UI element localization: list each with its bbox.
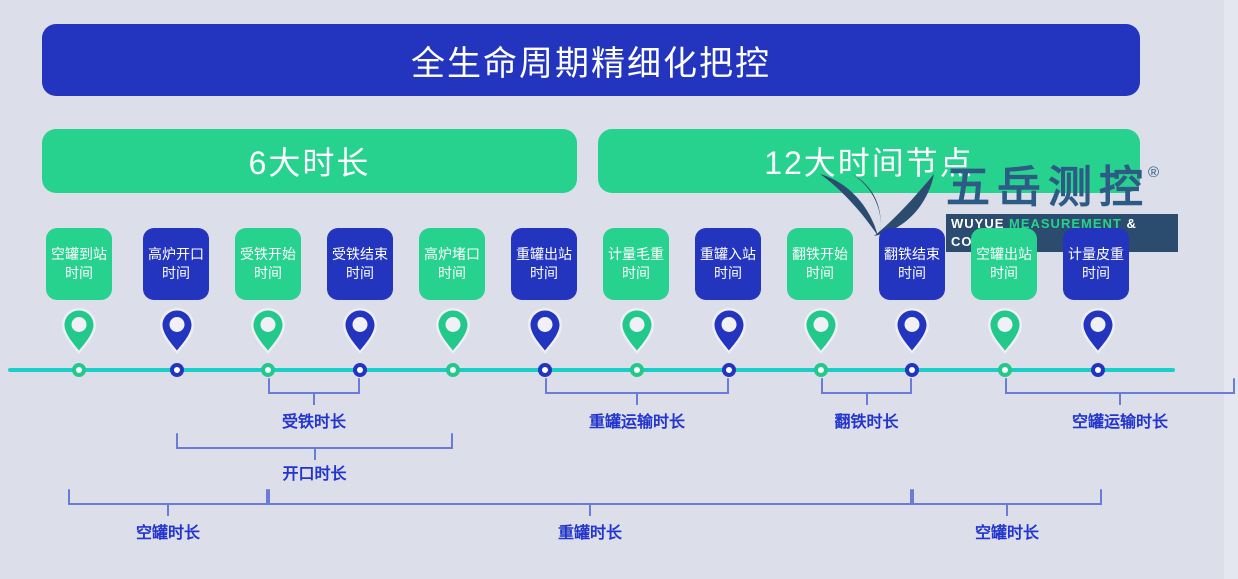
duration-bracket-label-6: 空罐时长 — [78, 519, 258, 543]
timeline-dot-10[interactable] — [905, 363, 919, 377]
map-pin-icon-6[interactable] — [527, 307, 563, 355]
node-card-label: 受铁开始时间 — [239, 245, 297, 283]
node-card-label: 空罐出站时间 — [975, 245, 1033, 283]
node-card-10[interactable]: 翻铁结束时间 — [879, 228, 945, 300]
bracket-end-left — [68, 489, 70, 504]
bracket-end-left — [268, 489, 270, 504]
duration-bracket-label-2: 重罐运输时长 — [547, 408, 727, 432]
bracket-center-tick — [167, 504, 169, 516]
duration-bracket-label-5: 开口时长 — [225, 460, 405, 484]
node-card-8[interactable]: 重罐入站时间 — [695, 228, 761, 300]
timeline-dot-7[interactable] — [630, 363, 644, 377]
watermark-registered-mark: ® — [1148, 164, 1159, 181]
duration-bracket-8 — [912, 489, 1102, 511]
bracket-end-left — [1005, 378, 1007, 393]
node-card-9[interactable]: 翻铁开始时间 — [787, 228, 853, 300]
map-pin-icon-8[interactable] — [711, 307, 747, 355]
node-card-6[interactable]: 重罐出站时间 — [511, 228, 577, 300]
bracket-end-right — [910, 378, 912, 393]
map-pin-icon-2[interactable] — [159, 307, 195, 355]
map-pin-icon-7[interactable] — [619, 307, 655, 355]
node-card-4[interactable]: 受铁结束时间 — [327, 228, 393, 300]
map-pin-icon-11[interactable] — [987, 307, 1023, 355]
bracket-end-left — [268, 378, 270, 393]
timeline-dot-8[interactable] — [722, 363, 736, 377]
map-pin-icon-9[interactable] — [803, 307, 839, 355]
duration-bracket-5 — [176, 433, 453, 455]
duration-bracket-label-7: 重罐时长 — [500, 519, 680, 543]
bracket-end-left — [176, 433, 178, 448]
duration-bracket-2 — [545, 378, 729, 400]
node-card-label: 高炉堵口时间 — [423, 245, 481, 283]
node-card-11[interactable]: 空罐出站时间 — [971, 228, 1037, 300]
timeline-dot-11[interactable] — [998, 363, 1012, 377]
right-edge-strip — [1224, 0, 1238, 579]
bracket-end-right — [1100, 489, 1102, 504]
duration-bracket-label-4: 空罐运输时长 — [1030, 408, 1210, 432]
section-banner-durations-label: 6大时长 — [249, 138, 371, 184]
node-card-1[interactable]: 空罐到站时间 — [46, 228, 112, 300]
section-banner-time-nodes-label: 12大时间节点 — [764, 138, 974, 184]
node-card-label: 重罐入站时间 — [699, 245, 757, 283]
duration-bracket-1 — [268, 378, 360, 400]
map-pin-icon-12[interactable] — [1080, 307, 1116, 355]
node-card-label: 翻铁开始时间 — [791, 245, 849, 283]
node-card-label: 受铁结束时间 — [331, 245, 389, 283]
node-card-12[interactable]: 计量皮重时间 — [1063, 228, 1129, 300]
timeline-dot-9[interactable] — [814, 363, 828, 377]
section-banner-durations: 6大时长 — [42, 129, 577, 193]
duration-bracket-label-1: 受铁时长 — [224, 408, 404, 432]
duration-bracket-7 — [268, 489, 912, 511]
map-pin-icon-3[interactable] — [250, 307, 286, 355]
duration-bracket-label-8: 空罐时长 — [917, 519, 1097, 543]
timeline-dot-12[interactable] — [1091, 363, 1105, 377]
node-card-5[interactable]: 高炉堵口时间 — [419, 228, 485, 300]
timeline-dot-6[interactable] — [538, 363, 552, 377]
node-card-label: 计量皮重时间 — [1067, 245, 1125, 283]
timeline-dot-4[interactable] — [353, 363, 367, 377]
bracket-end-left — [545, 378, 547, 393]
map-pin-icon-1[interactable] — [61, 307, 97, 355]
node-card-7[interactable]: 计量毛重时间 — [603, 228, 669, 300]
node-card-label: 高炉开口时间 — [147, 245, 205, 283]
page-title-banner: 全生命周期精细化把控 — [42, 24, 1140, 96]
node-card-3[interactable]: 受铁开始时间 — [235, 228, 301, 300]
bracket-center-tick — [1006, 504, 1008, 516]
bracket-end-right — [358, 378, 360, 393]
bracket-center-tick — [314, 448, 316, 460]
bracket-end-right — [1233, 378, 1235, 393]
section-banner-time-nodes: 12大时间节点 — [598, 129, 1140, 193]
bracket-center-tick — [636, 393, 638, 405]
duration-bracket-4 — [1005, 378, 1235, 400]
bracket-end-left — [912, 489, 914, 504]
bracket-center-tick — [1119, 393, 1121, 405]
timeline-dot-1[interactable] — [72, 363, 86, 377]
node-card-label: 翻铁结束时间 — [883, 245, 941, 283]
page-title: 全生命周期精细化把控 — [411, 36, 771, 85]
node-card-label: 计量毛重时间 — [607, 245, 665, 283]
bracket-center-tick — [866, 393, 868, 405]
timeline-infographic: 全生命周期精细化把控 6大时长 12大时间节点 五岳测控 ® WUYUE MEA… — [0, 0, 1238, 579]
duration-bracket-label-3: 翻铁时长 — [777, 408, 957, 432]
map-pin-icon-4[interactable] — [342, 307, 378, 355]
node-card-label: 重罐出站时间 — [515, 245, 573, 283]
map-pin-icon-10[interactable] — [894, 307, 930, 355]
bracket-end-left — [821, 378, 823, 393]
bracket-center-tick — [313, 393, 315, 405]
bracket-end-right — [727, 378, 729, 393]
timeline-dot-2[interactable] — [170, 363, 184, 377]
node-card-2[interactable]: 高炉开口时间 — [143, 228, 209, 300]
bracket-center-tick — [589, 504, 591, 516]
bracket-end-right — [451, 433, 453, 448]
timeline-dot-5[interactable] — [446, 363, 460, 377]
map-pin-icon-5[interactable] — [435, 307, 471, 355]
node-card-label: 空罐到站时间 — [50, 245, 108, 283]
duration-bracket-6 — [68, 489, 268, 511]
timeline-dot-3[interactable] — [261, 363, 275, 377]
duration-bracket-3 — [821, 378, 912, 400]
